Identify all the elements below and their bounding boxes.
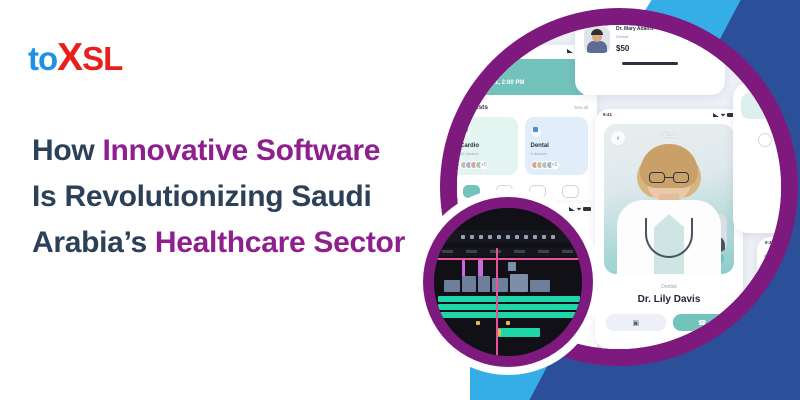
video-call-stage: ‹ 01:32: [604, 124, 734, 274]
specialist-avatars: +5: [460, 161, 512, 169]
video-editing-circle-inner: [434, 208, 582, 356]
specialist-name: Cardio: [460, 143, 512, 149]
home-indicator: [622, 62, 678, 65]
wifi-icon: [721, 113, 726, 117]
zoom-icon[interactable]: [506, 235, 510, 239]
phone-screen-partial-right: [733, 83, 781, 233]
call-timer: 01:32: [604, 133, 734, 139]
keyframe-marker[interactable]: [498, 329, 501, 336]
video-editing-circle: [423, 197, 593, 367]
battery-icon: [583, 207, 591, 211]
headline-line-3: Arabia’s Healthcare Sector: [32, 220, 452, 266]
doctor-fee-row: Dr. Mary Adams Dentist $50: [575, 25, 725, 53]
logo-text-x: X: [57, 36, 82, 79]
phone-screen-video-call: 9:41: [595, 109, 743, 349]
status-time: 9:41: [457, 48, 462, 53]
keyframe-marker[interactable]: [506, 321, 510, 325]
specialists-title: Specialists: [457, 104, 488, 111]
end-call-button[interactable]: ☎: [673, 314, 733, 331]
appointment-date-row: June 21, 2:00 PM: [461, 77, 581, 88]
calendar-icon: [461, 77, 472, 88]
status-bar: 9:41: [757, 237, 781, 245]
status-time: 9:41: [603, 112, 612, 117]
headline-line-2: Is Revolutionizing Saudi: [32, 174, 452, 220]
avatar-overflow-count: +5: [551, 161, 559, 169]
timeline-clip[interactable]: [508, 262, 516, 271]
headline-line-3-navy: Arabia’s: [32, 226, 155, 259]
upcoming-appointment-card[interactable]: Dr. Mary Davis June 21, 2:00 PM: [457, 59, 589, 95]
hand-icon[interactable]: [497, 235, 501, 239]
fee-price: $50: [616, 44, 654, 53]
doctor-fee-card: Dr. Mary Adams Dentist $50: [575, 25, 725, 95]
editor-toolbar: [434, 230, 582, 243]
play-icon[interactable]: [479, 235, 483, 239]
audio-track-clip[interactable]: [496, 328, 540, 337]
timeline-clip[interactable]: [510, 274, 528, 292]
glasses-icon: [649, 172, 689, 183]
specialist-card-cardio[interactable]: Cardio 12 doctors +5: [457, 117, 518, 175]
appointment-date: June 21, 2:00 PM: [476, 80, 524, 86]
keyframe-marker[interactable]: [476, 321, 480, 325]
specialist-avatars: +5: [531, 161, 583, 169]
signal-icon: [713, 113, 719, 117]
specialist-name: Dental: [531, 143, 583, 149]
logo-text-sl: SL: [82, 40, 122, 77]
status-bar: 9:41: [595, 109, 743, 117]
timeline-clip[interactable]: [478, 276, 490, 292]
specialist-count: 12 doctors: [460, 151, 512, 156]
headline-line-1: How Innovative Software: [32, 128, 452, 174]
tooth-icon: [531, 127, 541, 137]
audio-track-clip[interactable]: [438, 312, 580, 318]
timeline-clip[interactable]: [444, 280, 460, 292]
timeline-clip[interactable]: [462, 276, 476, 292]
headline-line-1-purple: Innovative Software: [102, 134, 380, 167]
audio-track-clip[interactable]: [438, 296, 580, 302]
doctor-fee-text: Dr. Mary Adams Dentist $50: [616, 26, 654, 53]
avatar-overflow-count: +5: [480, 161, 488, 169]
logo-text-to: to: [28, 40, 57, 77]
phone-screen-partial-far-right: 9:41 ‹: [757, 237, 781, 349]
playhead[interactable]: [496, 248, 498, 356]
audio-track-clip[interactable]: [438, 304, 580, 310]
partial-card: [741, 93, 781, 119]
status-time: 9:41: [765, 240, 774, 245]
appointment-doctor-name: Dr. Mary Davis: [461, 66, 581, 72]
specialists-header: Specialists See all: [457, 104, 588, 111]
pen-icon[interactable]: [524, 235, 528, 239]
snap-icon[interactable]: [551, 235, 555, 239]
text-icon[interactable]: [533, 235, 537, 239]
fee-doctor-name: Dr. Mary Adams: [616, 26, 654, 32]
slip-icon[interactable]: [515, 235, 519, 239]
video-call-actions: ▣ ☎: [606, 314, 732, 331]
heart-icon: [460, 127, 470, 137]
camera-toggle-button[interactable]: ▣: [606, 314, 666, 331]
timeline-clip[interactable]: [492, 278, 508, 292]
headline-line-2-navy: Is Revolutionizing Saudi: [32, 180, 372, 213]
fee-doctor-role: Dentist: [616, 34, 654, 39]
nav-profile-icon[interactable]: [562, 185, 579, 198]
headline-line-3-purple: Healthcare Sector: [155, 226, 405, 259]
see-all-link[interactable]: See all: [574, 105, 588, 110]
banner-root: toXSL How Innovative Software Is Revolut…: [0, 0, 800, 400]
specialist-card-dental[interactable]: Dental 9 doctors +5: [525, 117, 589, 175]
circle-button[interactable]: [758, 133, 772, 147]
cursor-icon[interactable]: [470, 235, 474, 239]
signal-icon: [567, 49, 573, 53]
video-call-doctor-role: Dentist: [595, 284, 743, 290]
marker-icon[interactable]: [461, 235, 465, 239]
razor-icon[interactable]: [488, 235, 492, 239]
headline-line-1-navy: How: [32, 134, 102, 167]
specialist-count: 9 doctors: [531, 151, 583, 156]
specialists-list: Cardio 12 doctors +5: [457, 117, 588, 175]
toxsl-logo[interactable]: toXSL: [28, 38, 122, 77]
doctor-avatar: [584, 27, 610, 53]
timeline-divider: [434, 258, 582, 260]
shape-icon[interactable]: [542, 235, 546, 239]
timeline-ruler[interactable]: [434, 248, 582, 256]
video-call-doctor-name: Dr. Lily Davis: [595, 294, 743, 305]
video-timeline-mockup: [434, 208, 582, 356]
page-title: How Innovative Software Is Revolutionizi…: [32, 128, 452, 266]
back-button[interactable]: ‹: [764, 253, 781, 260]
status-icons: [713, 113, 735, 117]
timeline-clip[interactable]: [530, 280, 550, 292]
